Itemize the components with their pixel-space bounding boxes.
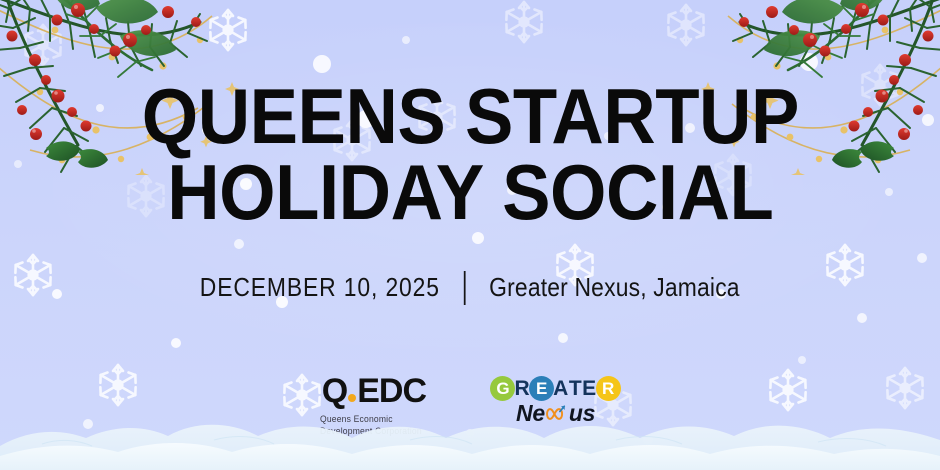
event-meta: DECEMBER 10, 2025 Greater Nexus, Jamaica [200,271,740,305]
greater-wordmark: G R E A T E R [491,376,619,401]
snow-drift-decoration [0,412,940,470]
event-banner: QUEENS STARTUP HOLIDAY SOCIAL DECEMBER 1… [0,0,940,470]
qedc-wordmark: Q EDC [322,374,426,408]
event-venue: Greater Nexus, Jamaica [489,272,740,303]
qedc-letters-edc: EDC [357,374,426,408]
event-date: DECEMBER 10, 2025 [200,272,440,303]
greater-letter-r2: R [596,376,621,401]
greater-letter-t: T [569,378,582,399]
qedc-dot-icon [348,394,356,402]
event-title-line-1: QUEENS STARTUP [141,72,798,160]
event-title-line-2: HOLIDAY SOCIAL [141,154,798,230]
greater-letter-e1: E [529,376,554,401]
greater-letter-e2: E [582,378,597,399]
event-title: QUEENS STARTUP HOLIDAY SOCIAL [141,78,798,231]
greater-letter-g: G [490,376,515,401]
meta-divider [464,271,466,305]
greater-letter-a: A [553,378,569,399]
greater-letter-r1: R [514,378,530,399]
qedc-letter-q: Q [322,374,347,408]
